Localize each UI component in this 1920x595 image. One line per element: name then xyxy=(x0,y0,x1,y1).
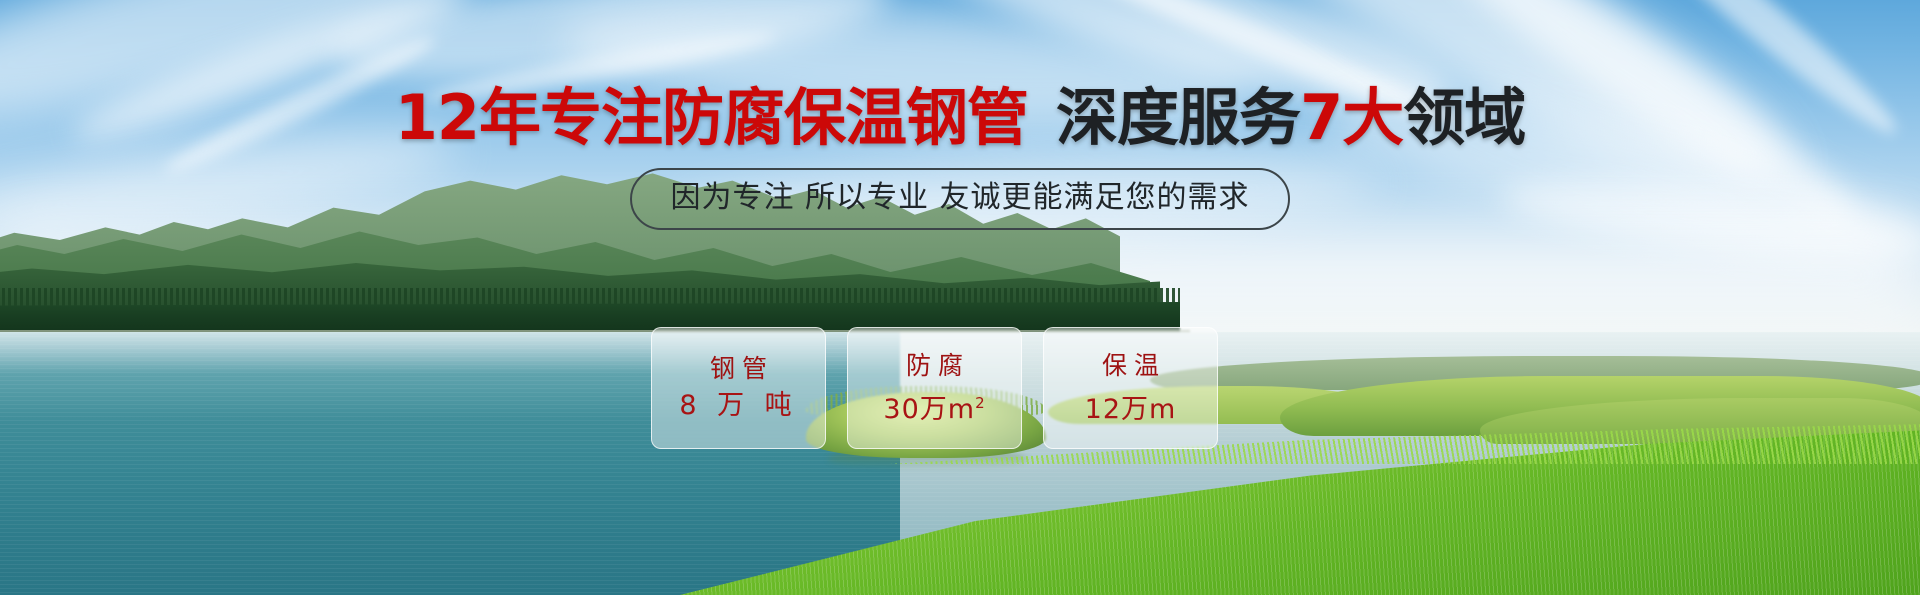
stat-card-value-text: 8 万 吨 xyxy=(679,390,797,421)
stat-card-value: 12万m xyxy=(1085,387,1177,426)
headline-fields-number: 7 xyxy=(1300,81,1342,154)
promotional-banner: 12年专注防腐保温钢管深度服务7大领域 因为专注 所以专业 友诚更能满足您的需求… xyxy=(0,0,1920,595)
stat-card-value-text: 12万m xyxy=(1085,394,1177,425)
stat-card-anticorrosion[interactable]: 防腐 30万m2 xyxy=(847,327,1022,449)
stat-card-value: 30万m2 xyxy=(883,387,985,426)
stat-card-label: 保温 xyxy=(1095,351,1166,381)
stat-card-value: 8 万 吨 xyxy=(679,390,797,422)
subtitle-pill: 因为专注 所以专业 友诚更能满足您的需求 xyxy=(630,168,1289,230)
headline-service-text: 深度服务 xyxy=(1056,81,1300,154)
stat-card-label: 钢管 xyxy=(703,354,774,384)
stat-card-steel-pipe[interactable]: 钢管 8 万 吨 xyxy=(651,327,826,449)
stat-card-insulation[interactable]: 保温 12万m xyxy=(1043,327,1218,449)
stat-card-group: 钢管 8 万 吨 防腐 30万m2 保温 12万m xyxy=(651,327,1218,449)
headline-years-number: 12 xyxy=(395,81,479,154)
stat-card-value-superscript: 2 xyxy=(975,394,986,412)
stat-card-value-text: 30万m xyxy=(883,394,975,425)
headline: 12年专注防腐保温钢管深度服务7大领域 xyxy=(0,86,1920,150)
headline-fields-text: 领域 xyxy=(1403,81,1525,154)
stat-card-label: 防腐 xyxy=(899,351,970,381)
subtitle-container: 因为专注 所以专业 友诚更能满足您的需求 xyxy=(0,168,1920,230)
headline-fields-measure: 大 xyxy=(1342,81,1403,154)
headline-years-unit: 年专注防腐保温钢管 xyxy=(479,81,1028,154)
